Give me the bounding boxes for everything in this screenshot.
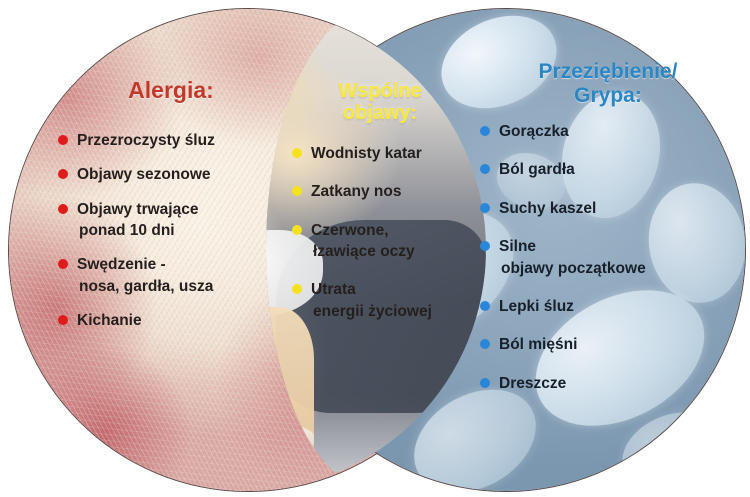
allergy-heading: Alergia: (58, 78, 284, 104)
list-item: Gorączka (480, 121, 736, 142)
symptom-line-1: Objawy trwające (77, 201, 198, 218)
heading-line-2: Grypa: (574, 84, 642, 107)
symptom-line-1: Dreszcze (499, 375, 566, 392)
symptom-line-1: Zatkany nos (311, 183, 401, 200)
list-item: Suchy kaszel (480, 198, 736, 219)
allergy-column: Alergia: Przezroczysty śluz Objawy sezon… (58, 78, 284, 344)
symptom-line-1: Gorączka (499, 123, 569, 140)
heading-line-2: objawy: (343, 102, 417, 124)
symptom-line-2: nosa, gardła, usza (77, 276, 284, 297)
symptom-line-1: Utrata (311, 281, 356, 298)
symptom-line-1: Suchy kaszel (499, 200, 596, 217)
symptom-line-1: Silne (499, 238, 536, 255)
list-item: Ból gardła (480, 159, 736, 180)
list-item: Lepki śluz (480, 296, 736, 317)
symptom-line-2: łzawiące oczy (311, 241, 468, 262)
list-item: Ból mięśni (480, 334, 736, 355)
list-item: Czerwone, łzawiące oczy (292, 220, 468, 263)
symptom-line-1: Kichanie (77, 312, 142, 329)
common-symptoms-column: Wspólne objawy: Wodnisty katar Zatkany n… (292, 80, 468, 339)
symptom-line-1: Przezroczysty śluz (77, 132, 215, 149)
list-item: Dreszcze (480, 373, 736, 394)
symptom-line-1: Objawy sezonowe (77, 166, 211, 183)
symptom-line-1: Czerwone, (311, 222, 389, 239)
common-symptom-list: Wodnisty katar Zatkany nos Czerwone, łza… (292, 143, 468, 322)
list-item: Swędzenie - nosa, gardła, usza (58, 254, 284, 297)
list-item: Objawy sezonowe (58, 164, 284, 185)
list-item: Przezroczysty śluz (58, 130, 284, 151)
symptom-line-1: Wodnisty katar (311, 145, 422, 162)
symptom-line-2: energii życiowej (311, 301, 468, 322)
list-item: Objawy trwające ponad 10 dni (58, 199, 284, 242)
symptom-line-2: ponad 10 dni (77, 220, 284, 241)
symptom-line-1: Lepki śluz (499, 298, 574, 315)
list-item: Zatkany nos (292, 181, 468, 202)
allergy-symptom-list: Przezroczysty śluz Objawy sezonowe Objaw… (58, 130, 284, 332)
list-item: Kichanie (58, 310, 284, 331)
symptom-line-2: objawy początkowe (499, 258, 736, 279)
heading-line-1: Przeziębienie/ (539, 60, 678, 83)
list-item: Wodnisty katar (292, 143, 468, 164)
list-item: Utrata energii życiowej (292, 279, 468, 322)
symptom-line-1: Swędzenie - (77, 256, 166, 273)
cold-flu-symptom-list: Gorączka Ból gardła Suchy kaszel Silne o… (480, 121, 736, 394)
symptom-line-1: Ból gardła (499, 161, 575, 178)
cold-flu-heading: Przeziębienie/ Grypa: (480, 60, 736, 107)
symptom-line-1: Ból mięśni (499, 336, 577, 353)
venn-diagram-infographic: Alergia: Przezroczysty śluz Objawy sezon… (0, 0, 750, 497)
cold-flu-column: Przeziębienie/ Grypa: Gorączka Ból gardł… (480, 60, 736, 411)
heading-line-1: Wspólne (338, 80, 421, 102)
list-item: Silne objawy początkowe (480, 236, 736, 279)
common-symptoms-heading: Wspólne objawy: (292, 80, 468, 125)
